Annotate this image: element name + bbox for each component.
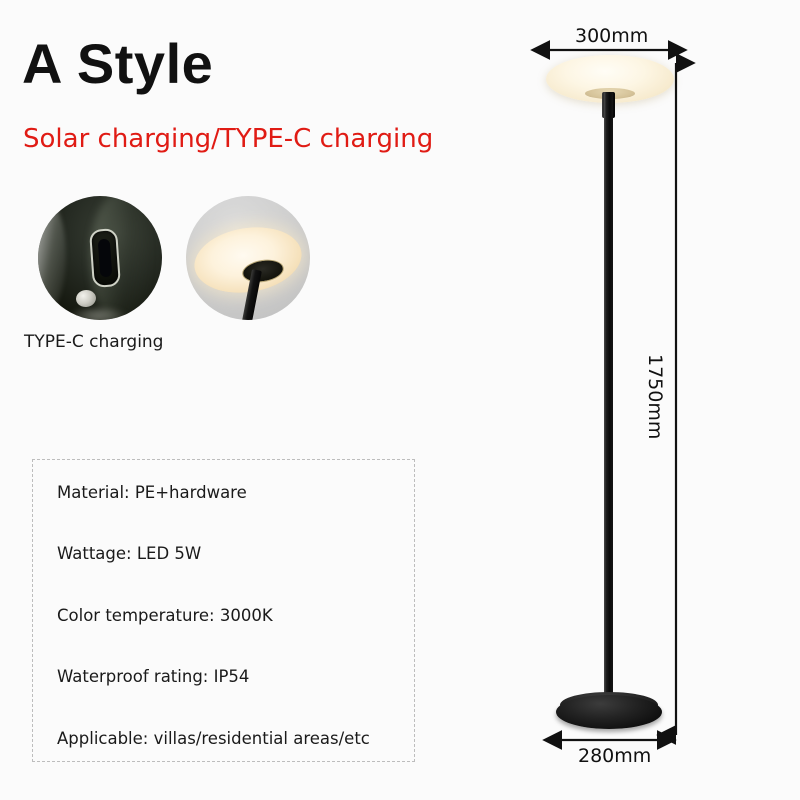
usb-c-slot <box>98 239 113 278</box>
spec-item-color-temperature: Color temperature: 3000K <box>57 606 273 625</box>
spec-item-wattage: Wattage: LED 5W <box>57 544 201 563</box>
lamp-shade-glow-photo <box>186 196 310 320</box>
spec-item-waterproof-rating: Waterproof rating: IP54 <box>57 667 249 686</box>
spec-item-applicable: Applicable: villas/residential areas/etc <box>57 729 370 748</box>
lamp-pole <box>604 92 613 704</box>
dimension-label-base-diameter: 280mm <box>578 745 651 767</box>
dimension-label-height: 1750mm <box>644 354 666 439</box>
usb-c-photo-caption: TYPE-C charging <box>24 332 163 352</box>
page-title: A Style <box>22 34 213 94</box>
product-spec-page: A Style Solar charging/TYPE-C charging T… <box>0 0 800 800</box>
spec-item-material: Material: PE+hardware <box>57 483 247 502</box>
page-subtitle: Solar charging/TYPE-C charging <box>23 124 433 154</box>
floor-lamp-product-image <box>430 0 800 800</box>
specifications-box: Material: PE+hardware Wattage: LED 5W Co… <box>32 459 415 762</box>
usb-c-icon <box>89 228 121 288</box>
lamp-base <box>556 695 662 729</box>
dimension-label-width-top: 300mm <box>575 25 648 47</box>
photo-edge-highlight <box>38 202 66 310</box>
usb-c-port-photo <box>38 196 162 320</box>
